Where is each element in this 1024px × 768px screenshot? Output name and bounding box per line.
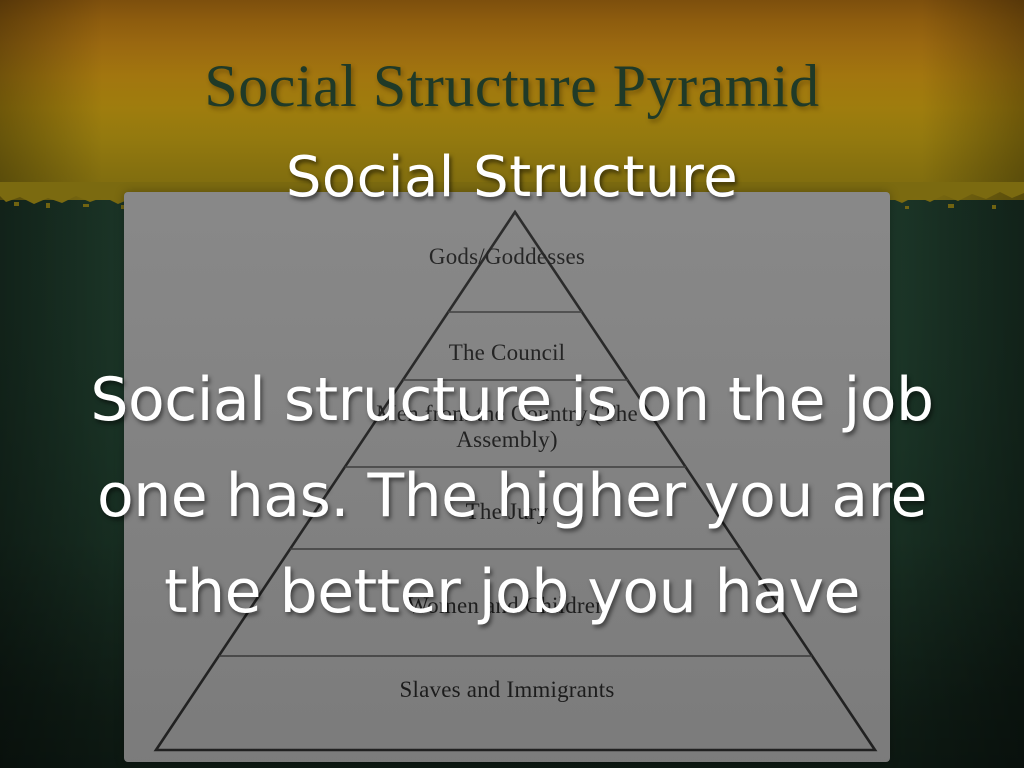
pyramid-tier-label-1: Gods/Goddesses [124,244,890,270]
body-line-1: Social structure is on the job [0,352,1024,448]
pyramid-tier-label-6: Slaves and Immigrants [124,677,890,703]
presentation-slide: Social Structure Pyramid Gods/Goddesses … [0,0,1024,768]
slide-title: Social Structure [0,150,1024,206]
body-line-2: one has. The higher you are [0,448,1024,544]
background-heading-text: Social Structure Pyramid [0,56,1024,116]
slide-body-text: Social structure is on the job one has. … [0,352,1024,640]
body-line-3: the better job you have [0,544,1024,640]
